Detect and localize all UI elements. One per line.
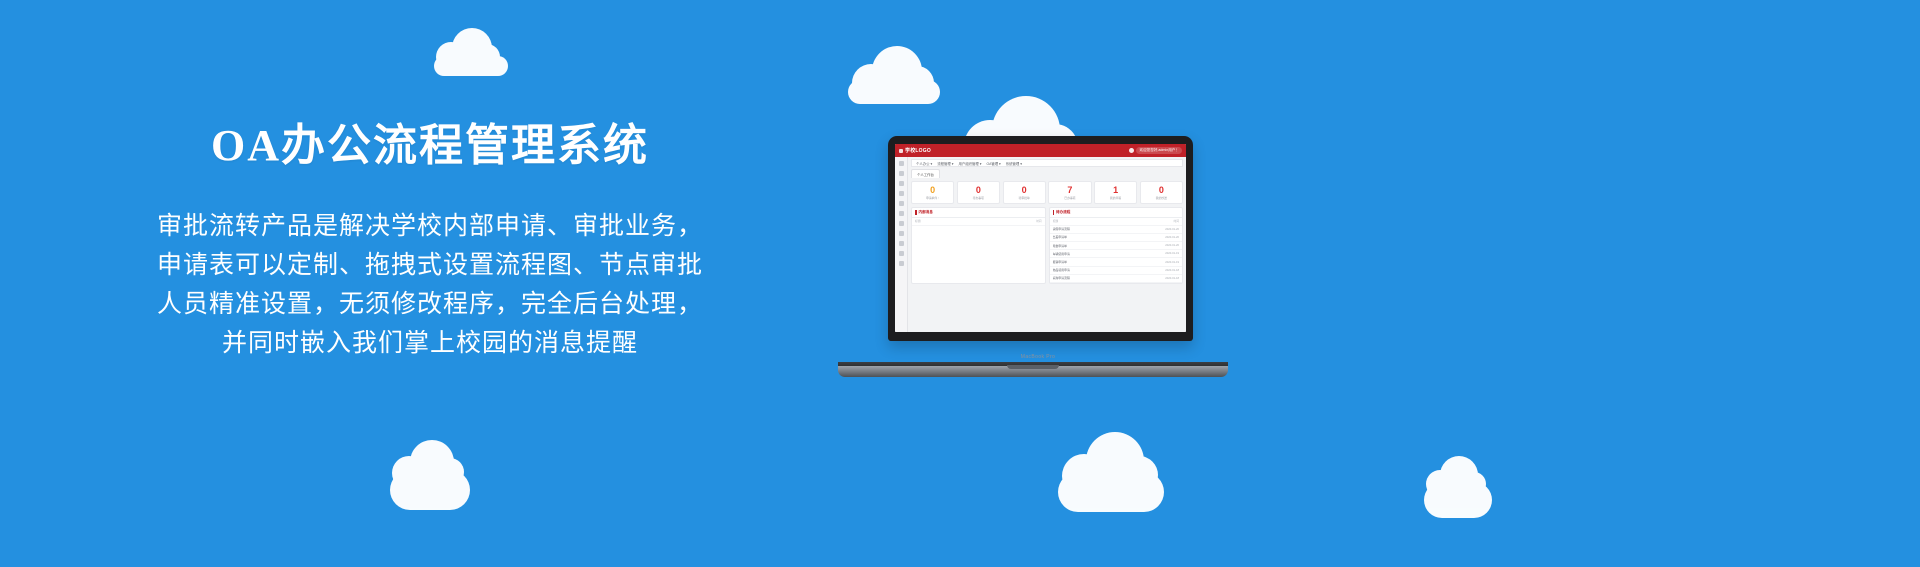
table-row[interactable]: 报销申请单 2020-01-19 <box>1050 258 1183 266</box>
description-line: 人员精准设置，无须修改程序，完全后台处理， <box>0 285 860 324</box>
sidebar-item-icon[interactable] <box>899 211 904 216</box>
nav-item[interactable]: 流程管理 ▾ <box>937 161 953 166</box>
logo-mark-icon <box>899 149 903 153</box>
row-title: 车辆使用申请 <box>1053 252 1070 256</box>
stat-value: 7 <box>1049 185 1090 195</box>
stat-card[interactable]: 1 我的草稿 <box>1094 181 1137 204</box>
panel-header: 待办流程 <box>1050 208 1183 218</box>
nav-menu: 个人办公 ▾ 流程管理 ▾ 用户组织管理 ▾ OA管理 ▾ 系统管理 ▾ <box>911 159 1183 167</box>
stat-value: 0 <box>1141 185 1182 195</box>
row-time: 2020-01-18 <box>1165 269 1179 272</box>
row-time: 2020-01-20 <box>1165 228 1179 231</box>
table-row[interactable]: 车辆使用申请 2020-01-19 <box>1050 250 1183 258</box>
column-header: 标题 <box>915 219 921 223</box>
cloud-decoration <box>872 46 922 96</box>
laptop-base <box>838 366 1228 377</box>
column-header: 时间 <box>1036 219 1041 223</box>
panel-title: 内部消息 <box>919 210 933 215</box>
app-logo: 学校LOGO <box>899 147 931 154</box>
panel-title: 待办流程 <box>1056 210 1070 215</box>
stat-value: 0 <box>958 185 999 195</box>
sidebar-item-icon[interactable] <box>899 201 904 206</box>
stat-card[interactable]: 0 待办事项 <box>957 181 1000 204</box>
table-row[interactable]: 物品领用申请 2020-01-18 <box>1050 267 1183 275</box>
row-title: 出差申请单 <box>1053 235 1067 239</box>
panel-internal-messages: 内部消息 标题 时间 <box>911 207 1046 285</box>
main-content: 个人办公 ▾ 流程管理 ▾ 用户组织管理 ▾ OA管理 ▾ 系统管理 ▾ 个人工… <box>908 157 1186 332</box>
tab-bar: 个人工作台 <box>911 169 1183 178</box>
laptop-screen: 学校LOGO 欢迎您您好,admin用户！ <box>895 144 1186 332</box>
stat-label: 待办事项 <box>958 196 999 200</box>
avatar <box>1129 148 1134 153</box>
stat-card[interactable]: 0 我的抄送 <box>1140 181 1183 204</box>
sidebar-item-icon[interactable] <box>899 261 904 266</box>
nav-item[interactable]: 用户组织管理 ▾ <box>958 161 981 166</box>
row-title: 采购申请流程 <box>1053 276 1070 280</box>
description-line: 并同时嵌入我们掌上校园的消息提醒 <box>0 324 860 363</box>
stat-label: 我的抄送 <box>1141 196 1182 200</box>
column-header: 时间 <box>1174 219 1179 223</box>
row-title: 报销申请单 <box>1053 260 1067 264</box>
table-header-row: 标题 时间 <box>1050 218 1183 226</box>
app-topbar: 学校LOGO 欢迎您您好,admin用户！ <box>895 144 1186 157</box>
table-row[interactable]: 出差申请单 2020-01-20 <box>1050 234 1183 242</box>
stat-label: 我的草稿 <box>1095 196 1136 200</box>
welcome-text: 欢迎您您好,admin用户！ <box>1136 147 1182 154</box>
dashboard-panels: 内部消息 标题 时间 待办流程 <box>911 207 1183 285</box>
sidebar-item-icon[interactable] <box>899 191 904 196</box>
table-row[interactable]: 采购申请流程 2020-01-18 <box>1050 275 1183 283</box>
panel-pending-flows: 待办流程 标题 时间 请假申请流程 2020-01-20 <box>1049 207 1184 285</box>
cloud-decoration <box>452 28 492 68</box>
sidebar <box>895 157 908 332</box>
stat-value: 1 <box>1095 185 1136 195</box>
row-title: 请假申请流程 <box>1053 227 1070 231</box>
user-area[interactable]: 欢迎您您好,admin用户！ <box>1129 147 1182 154</box>
sidebar-item-icon[interactable] <box>899 231 904 236</box>
row-title: 用章申请单 <box>1053 244 1067 248</box>
nav-item[interactable]: 系统管理 ▾ <box>1006 161 1022 166</box>
cloud-decoration <box>1440 456 1478 494</box>
column-header: 标题 <box>1053 219 1059 223</box>
row-time: 2020-01-19 <box>1165 252 1179 255</box>
stat-cards: 0 申请单件 ↑ 0 待办事项 0 待审批单 <box>911 181 1183 204</box>
stat-label: 待审批单 <box>1004 196 1045 200</box>
row-title: 物品领用申请 <box>1053 268 1070 272</box>
stat-card[interactable]: 0 申请单件 ↑ <box>911 181 954 204</box>
table-row[interactable]: 请假申请流程 2020-01-20 <box>1050 226 1183 234</box>
stat-card[interactable]: 7 已办事项 <box>1048 181 1091 204</box>
stat-label: 已办事项 <box>1049 196 1090 200</box>
stat-value: 0 <box>1004 185 1045 195</box>
row-time: 2020-01-20 <box>1165 236 1179 239</box>
tab-workbench[interactable]: 个人工作台 <box>911 169 940 178</box>
cloud-decoration <box>410 440 454 484</box>
app-logo-text: 学校LOGO <box>905 147 931 154</box>
stat-label: 申请单件 ↑ <box>912 196 953 200</box>
laptop-notch <box>1007 365 1059 369</box>
laptop-mockup: 学校LOGO 欢迎您您好,admin用户！ <box>838 136 1238 381</box>
banner-copy: OA办公流程管理系统 审批流转产品是解决学校内部申请、审批业务， 申请表可以定制… <box>0 120 860 363</box>
row-time: 2020-01-20 <box>1165 244 1179 247</box>
laptop-model-label: MacBook Pro <box>1021 354 1055 360</box>
stat-card[interactable]: 0 待审批单 <box>1003 181 1046 204</box>
panel-header: 内部消息 <box>912 208 1045 218</box>
sidebar-item-icon[interactable] <box>899 181 904 186</box>
description-line: 审批流转产品是解决学校内部申请、审批业务， <box>0 207 860 246</box>
nav-item[interactable]: OA管理 ▾ <box>986 161 1000 166</box>
laptop-lid: 学校LOGO 欢迎您您好,admin用户！ <box>888 136 1193 341</box>
description-line: 申请表可以定制、拖拽式设置流程图、节点审批 <box>0 246 860 285</box>
cloud-decoration <box>1086 432 1144 490</box>
row-time: 2020-01-19 <box>1165 261 1179 264</box>
table-header-row: 标题 时间 <box>912 218 1045 226</box>
sidebar-item-icon[interactable] <box>899 171 904 176</box>
page-title: OA办公流程管理系统 <box>0 120 860 173</box>
row-time: 2020-01-18 <box>1165 277 1179 280</box>
oa-banner: OA办公流程管理系统 审批流转产品是解决学校内部申请、审批业务， 申请表可以定制… <box>0 0 1920 567</box>
accent-bar-icon <box>915 210 917 215</box>
sidebar-item-icon[interactable] <box>899 251 904 256</box>
sidebar-item-icon[interactable] <box>899 161 904 166</box>
table-row[interactable]: 用章申请单 2020-01-20 <box>1050 242 1183 250</box>
stat-value: 0 <box>912 185 953 195</box>
accent-bar-icon <box>1053 210 1055 215</box>
app-body: 个人办公 ▾ 流程管理 ▾ 用户组织管理 ▾ OA管理 ▾ 系统管理 ▾ 个人工… <box>895 157 1186 332</box>
sidebar-item-icon[interactable] <box>899 241 904 246</box>
sidebar-item-icon[interactable] <box>899 221 904 226</box>
nav-item[interactable]: 个人办公 ▾ <box>916 161 932 166</box>
banner-description: 审批流转产品是解决学校内部申请、审批业务， 申请表可以定制、拖拽式设置流程图、节… <box>0 207 860 363</box>
